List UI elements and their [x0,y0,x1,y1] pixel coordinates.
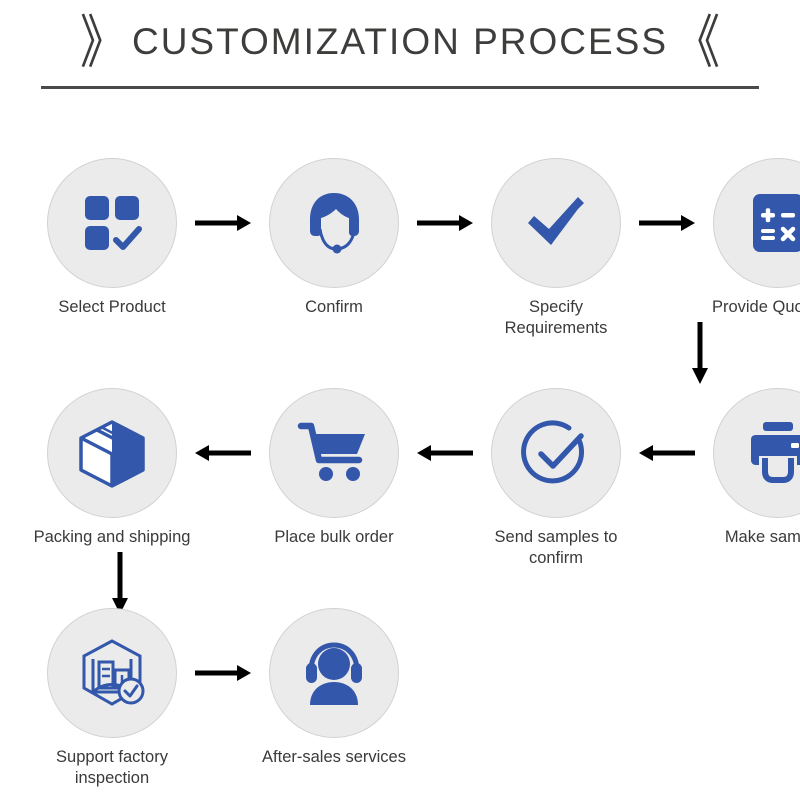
chevron-right-decoration-icon: 》 [80,13,126,71]
headset-person-icon [296,635,372,711]
arrow-down-icon [680,322,720,384]
step-icon-circle [47,388,177,518]
connector-arrow-right [192,608,254,738]
arrow-down-icon [100,552,140,614]
support-agent-icon [296,185,372,261]
connector-arrow-down-right [680,322,720,384]
step-icon-circle [47,608,177,738]
connector-arrow-left [414,388,476,518]
step-label: Place bulk order [274,527,393,548]
step-label: Support factory inspection [56,747,168,789]
process-row-3: Support factory inspection After-sales s… [0,608,800,789]
process-row-1: Select Product Confirm Specify R [0,158,800,339]
step-icon-circle [491,388,621,518]
title-divider [41,86,759,89]
process-step-specify-requirements[interactable]: Specify Requirements [476,158,636,339]
connector-arrow-down-left [100,552,140,614]
arrow-right-icon [195,213,251,233]
calculator-icon [743,188,800,258]
process-step-support-factory-inspection[interactable]: Support factory inspection [32,608,192,789]
step-label: Make samples [725,527,800,548]
step-label: Send samples to confirm [476,527,636,569]
step-icon-circle [269,608,399,738]
step-icon-circle [47,158,177,288]
title-row: 》 CUSTOMIZATION PROCESS 《 [0,12,800,72]
package-box-icon [73,414,151,492]
process-step-place-bulk-order[interactable]: Place bulk order [254,388,414,548]
step-label: Confirm [305,297,363,318]
process-step-send-samples-to-confirm[interactable]: Send samples to confirm [476,388,636,569]
process-row-2: Packing and shipping Place bulk order [0,388,800,569]
connector-arrow-left [636,388,698,518]
page-header: 》 CUSTOMIZATION PROCESS 《 [0,0,800,89]
arrow-right-icon [195,663,251,683]
connector-arrow-left [192,388,254,518]
step-icon-circle [491,158,621,288]
step-label: Specify Requirements [476,297,636,339]
connector-arrow-right [636,158,698,288]
factory-inspection-icon [73,634,151,712]
step-icon-circle [713,158,800,288]
process-step-confirm[interactable]: Confirm [254,158,414,318]
step-label: Packing and shipping [34,527,191,548]
step-icon-circle [269,158,399,288]
arrow-left-icon [639,443,695,463]
process-step-make-samples[interactable]: Make samples [698,388,800,548]
connector-arrow-right [414,158,476,288]
process-step-packing-and-shipping[interactable]: Packing and shipping [32,388,192,548]
arrow-left-icon [417,443,473,463]
circle-check-icon [517,414,595,492]
page-title: CUSTOMIZATION PROCESS [132,21,668,63]
process-step-after-sales-services[interactable]: After-sales services [254,608,414,768]
process-step-select-product[interactable]: Select Product [32,158,192,318]
process-step-provide-quotation[interactable]: Provide Quotation [698,158,800,318]
chevron-left-decoration-icon: 《 [674,13,720,71]
shopping-cart-icon [295,414,373,492]
printer-icon [741,416,800,490]
arrow-right-icon [417,213,473,233]
arrow-left-icon [195,443,251,463]
checkmark-icon [518,185,594,261]
step-label: After-sales services [262,747,406,768]
step-icon-circle [269,388,399,518]
step-label: Select Product [58,297,165,318]
step-icon-circle [713,388,800,518]
connector-arrow-right [192,158,254,288]
grid-check-icon [76,187,148,259]
step-label: Provide Quotation [712,297,800,318]
arrow-right-icon [639,213,695,233]
